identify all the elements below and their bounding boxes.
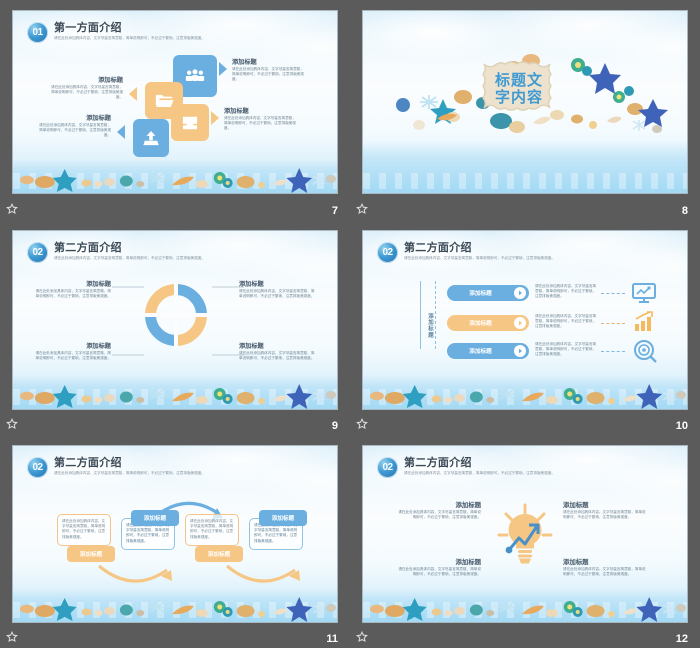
sea-shimmer (363, 141, 687, 193)
slide-7[interactable]: 01 第一方面介绍 请在此处添加具体内容，文字尽量言简意赅，简单说明即可，不必过… (12, 10, 338, 194)
pill-row-3[interactable]: 添加标题 (447, 343, 529, 359)
target-search-icon (633, 339, 657, 363)
dash-connector-3 (601, 351, 625, 352)
seashell-border (13, 594, 337, 620)
card-body: 请在此处添加具体内容，文字尽量言简意赅，简单说明即可，不必过于繁琐，注意排版美观… (190, 519, 234, 540)
slide-header: 01 第一方面介绍 请在此处添加具体内容，文字尽量言简意赅，简单说明即可，不必过… (27, 22, 236, 43)
dash-connector-1 (601, 293, 625, 294)
chevron-right-icon (514, 287, 526, 299)
lightbulb-growth-arrow-icon (496, 502, 554, 568)
inbox-download-icon (181, 115, 199, 131)
bar-chart-growth-icon (633, 311, 657, 333)
page-subtitle: 请在此处添加具体内容，文字尽量言简意赅，简单说明即可，不必过于繁琐，注意排版美观… (54, 471, 236, 476)
section-badge: 02 (27, 242, 48, 263)
slide-8[interactable]: 标题文 字内容 (362, 10, 688, 194)
slide-footer: 12 (350, 624, 700, 648)
pill-row-1[interactable]: 添加标题 (447, 285, 529, 301)
callout-body: 请在此处添加具体内容，文字尽量言简意赅，简单说明即可，不必过于繁琐，注意排版美观… (239, 289, 317, 299)
process-label-1[interactable]: 添加标题 (67, 546, 115, 562)
slide-12[interactable]: 02 第二方面介绍 请在此处添加具体内容，文字尽量言简意赅，简单说明即可，不必过… (362, 445, 688, 623)
page-number: 10 (676, 420, 688, 432)
slide-footer: 10 (350, 411, 700, 435)
page-title: 第二方面介绍 (54, 242, 236, 254)
callout-body: 请在此处添加具体内容，文字尽量言简意赅，简单说明即可，不必过于繁琐，注意排版美观… (563, 567, 647, 577)
slide-header: 02 第二方面介绍 请在此处添加具体内容，文字尽量言简意赅，简单说明即可，不必过… (27, 457, 236, 478)
callout-body: 请在此处添加具体内容，文字尽量言简意赅，简单说明即可，不必过于繁琐，注意排版美观… (35, 351, 111, 361)
page-subtitle: 请在此处添加具体内容，文字尽量言简意赅，简单说明即可，不必过于繁琐，注意排版美观… (54, 256, 236, 261)
page-number: 7 (332, 205, 338, 217)
star-outline-icon[interactable] (356, 418, 368, 430)
slide-cell-8[interactable]: 标题文 字内容 8 (350, 0, 700, 220)
row-body-3: 请在此处添加具体内容，文字尽量言简意赅，简单说明即可，不必过于繁琐，注意排版美观… (535, 342, 597, 358)
page-title: 第一方面介绍 (54, 22, 236, 34)
row-body-1: 请在此处添加具体内容，文字尽量言简意赅，简单说明即可，不必过于繁琐，注意排版美观… (535, 284, 597, 300)
callout-caption: 添加标题 (239, 343, 317, 351)
bulb-callout-1: 添加标题 请在此处添加具体内容，文字尽量言简意赅，简单说明即可，不必过于繁琐，注… (397, 502, 481, 520)
callout-caption: 添加标题 (397, 559, 481, 567)
callout-body: 请在此处添加具体内容，文字尽量言简意赅，简单说明即可，不必过于繁琐，注意排版美观… (563, 510, 647, 520)
callout-body: 请在此处添加具体内容，文字尽量言简意赅，简单说明即可，不必过于繁琐，注意排版美观… (239, 351, 317, 361)
callout-body: 请在此处添加具体内容，文字尽量言简意赅，简单说明即可，不必过于繁琐，注意排版美观… (49, 85, 123, 101)
page-title: 第二方面介绍 (404, 242, 586, 254)
upload-icon (143, 130, 159, 147)
pill-label: 添加标题 (447, 319, 514, 327)
star-outline-icon[interactable] (356, 631, 368, 643)
slide-9[interactable]: 02 第二方面介绍 请在此处添加具体内容，文字尽量言简意赅，简单说明即可，不必过… (12, 230, 338, 410)
card-body: 请在此处添加具体内容，文字尽量言简意赅，简单说明即可，不必过于繁琐，注意排版美观… (254, 523, 298, 544)
slide-cell-7[interactable]: 01 第一方面介绍 请在此处添加具体内容，文字尽量言简意赅，简单说明即可，不必过… (0, 0, 350, 220)
slide-11[interactable]: 02 第二方面介绍 请在此处添加具体内容，文字尽量言简意赅，简单说明即可，不必过… (12, 445, 338, 623)
arrow-left-2 (117, 125, 125, 139)
arrow-left-1 (129, 87, 137, 101)
callout-caption: 添加标题 (224, 108, 296, 116)
page-subtitle: 请在此处添加具体内容，文字尽量言简意赅，简单说明即可，不必过于繁琐，注意排版美观… (54, 36, 236, 41)
leader-lines (108, 281, 248, 361)
page-number: 8 (682, 205, 688, 217)
axis-line (420, 281, 421, 349)
seashell-border (363, 594, 687, 620)
callout-caption: 添加标题 (239, 281, 317, 289)
slide-cell-12[interactable]: 02 第二方面介绍 请在此处添加具体内容，文字尽量言简意赅，简单说明即可，不必过… (350, 435, 700, 648)
callout-body: 请在此处添加具体内容，文字尽量言简意赅，简单说明即可，不必过于繁琐，注意排版美观… (397, 567, 481, 577)
donut-callout-4: 添加标题 请在此处添加具体内容，文字尽量言简意赅，简单说明即可，不必过于繁琐，注… (239, 343, 317, 361)
process-label-3[interactable]: 添加标题 (195, 546, 243, 562)
slide-cell-11[interactable]: 02 第二方面介绍 请在此处添加具体内容，文字尽量言简意赅，简单说明即可，不必过… (0, 435, 350, 648)
bulb-callout-2: 添加标题 请在此处添加具体内容，文字尽量言简意赅，简单说明即可，不必过于繁琐，注… (563, 502, 647, 520)
callout-caption: 添加标题 (563, 502, 647, 510)
chevron-right-icon (514, 317, 526, 329)
dash-connector-2 (601, 323, 625, 324)
star-outline-icon[interactable] (356, 203, 368, 215)
seashell-border (13, 165, 337, 191)
process-label-2[interactable]: 添加标题 (131, 510, 179, 526)
seashell-border (13, 381, 337, 407)
section-badge: 01 (27, 22, 48, 43)
donut-callout-1: 添加标题 请在此处添加具体内容，文字尽量言简意赅，简单说明即可，不必过于繁琐，注… (35, 281, 111, 299)
page-number: 12 (676, 633, 688, 645)
pill-label: 添加标题 (447, 289, 514, 297)
page-number: 11 (326, 633, 338, 645)
callout-body: 请在此处添加具体内容，文字尽量言简意赅，简单说明即可，不必过于繁琐，注意排版美观… (397, 510, 481, 520)
slide-footer: 7 (0, 196, 350, 220)
callout-caption: 添加标题 (563, 559, 647, 567)
callout-caption: 添加标题 (49, 77, 123, 85)
arrow-right-2 (211, 111, 219, 125)
page-title: 第二方面介绍 (404, 457, 586, 469)
slide-footer: 9 (0, 411, 350, 435)
tile-upload[interactable] (133, 119, 169, 157)
slide-header: 02 第二方面介绍 请在此处添加具体内容，文字尽量言简意赅，简单说明即可，不必过… (377, 457, 586, 478)
people-group-icon (185, 69, 205, 83)
page-number: 9 (332, 420, 338, 432)
callout-caption: 添加标题 (397, 502, 481, 510)
process-card-3[interactable]: 请在此处添加具体内容，文字尽量言简意赅，简单说明即可，不必过于繁琐，注意排版美观… (185, 514, 239, 546)
page-subtitle: 请在此处添加具体内容，文字尽量言简意赅，简单说明即可，不必过于繁琐，注意排版美观… (404, 256, 586, 261)
bulb-callout-4: 添加标题 请在此处添加具体内容，文字尽量言简意赅，简单说明即可，不必过于繁琐，注… (563, 559, 647, 577)
slide-footer: 8 (350, 196, 700, 220)
callout-body: 请在此处添加具体内容，文字尽量言简意赅，简单说明即可，不必过于繁琐，注意排版美观… (224, 116, 296, 132)
slide-cell-9[interactable]: 02 第二方面介绍 请在此处添加具体内容，文字尽量言简意赅，简单说明即可，不必过… (0, 220, 350, 435)
star-outline-icon[interactable] (6, 631, 18, 643)
callout-2: 添加标题 请在此处添加具体内容，文字尽量言简意赅，简单说明即可，不必过于繁琐，注… (49, 77, 123, 101)
star-outline-icon[interactable] (6, 418, 18, 430)
folder-icon (155, 93, 174, 108)
slide-header: 02 第二方面介绍 请在此处添加具体内容，文字尽量言简意赅，简单说明即可，不必过… (27, 242, 236, 263)
pill-row-2[interactable]: 添加标题 (447, 315, 529, 331)
callout-body: 请在此处添加具体内容，文字尽量言简意赅，简单说明即可，不必过于繁琐，注意排版美观… (37, 123, 111, 139)
slide-header: 02 第二方面介绍 请在此处添加具体内容，文字尽量言简意赅，简单说明即可，不必过… (377, 242, 586, 263)
monitor-presentation-icon (631, 281, 657, 305)
slide-thumbnail-grid: 01 第一方面介绍 请在此处添加具体内容，文字尽量言简意赅，简单说明即可，不必过… (0, 0, 700, 648)
row-body-2: 请在此处添加具体内容，文字尽量言简意赅，简单说明即可，不必过于繁琐，注意排版美观… (535, 314, 597, 330)
callout-caption: 添加标题 (37, 115, 111, 123)
star-outline-icon[interactable] (6, 203, 18, 215)
page-title: 第二方面介绍 (54, 457, 236, 469)
process-label-4[interactable]: 添加标题 (259, 510, 307, 526)
pill-label: 添加标题 (447, 347, 514, 355)
chevron-right-icon (514, 345, 526, 357)
bulb-callout-3: 添加标题 请在此处添加具体内容，文字尽量言简意赅，简单说明即可，不必过于繁琐，注… (397, 559, 481, 577)
callout-body: 请在此处添加具体内容，文字尽量言简意赅，简单说明即可，不必过于繁琐，注意排版美观… (35, 289, 111, 299)
vertical-label: 添加标题 (426, 313, 434, 339)
donut-callout-3: 添加标题 请在此处添加具体内容，文字尽量言简意赅，简单说明即可，不必过于繁琐，注… (35, 343, 111, 361)
section-badge: 02 (377, 242, 398, 263)
plaque-line-1: 标题文 (495, 72, 543, 89)
dashed-axis (435, 281, 436, 349)
callout-3: 添加标题 请在此处添加具体内容，文字尽量言简意赅，简单说明即可，不必过于繁琐，注… (224, 108, 296, 132)
tile-inbox[interactable] (171, 104, 209, 141)
arrow-right-1 (219, 62, 227, 76)
callout-4: 添加标题 请在此处添加具体内容，文字尽量言简意赅，简单说明即可，不必过于繁琐，注… (37, 115, 111, 139)
seashell-border (363, 381, 687, 407)
card-body: 请在此处添加具体内容，文字尽量言简意赅，简单说明即可，不必过于繁琐，注意排版美观… (126, 523, 170, 544)
slide-cell-10[interactable]: 02 第二方面介绍 请在此处添加具体内容，文字尽量言简意赅，简单说明即可，不必过… (350, 220, 700, 435)
callout-caption: 添加标题 (35, 343, 111, 351)
plaque-line-2: 字内容 (495, 89, 543, 106)
page-subtitle: 请在此处添加具体内容，文字尽量言简意赅，简单说明即可，不必过于繁琐，注意排版美观… (404, 471, 586, 476)
section-badge: 02 (27, 457, 48, 478)
process-card-1[interactable]: 请在此处添加具体内容，文字尽量言简意赅，简单说明即可，不必过于繁琐，注意排版美观… (57, 514, 111, 546)
callout-caption: 添加标题 (35, 281, 111, 289)
slide-footer: 11 (0, 624, 350, 648)
donut-callout-2: 添加标题 请在此处添加具体内容，文字尽量言简意赅，简单说明即可，不必过于繁琐，注… (239, 281, 317, 299)
callout-1: 添加标题 请在此处添加具体内容，文字尽量言简意赅，简单说明即可，不必过于繁琐，注… (232, 59, 304, 83)
title-plaque: 标题文 字内容 (476, 58, 562, 120)
slide-10[interactable]: 02 第二方面介绍 请在此处添加具体内容，文字尽量言简意赅，简单说明即可，不必过… (362, 230, 688, 410)
section-badge: 02 (377, 457, 398, 478)
callout-caption: 添加标题 (232, 59, 304, 67)
card-body: 请在此处添加具体内容，文字尽量言简意赅，简单说明即可，不必过于繁琐，注意排版美观… (62, 519, 106, 540)
callout-body: 请在此处添加具体内容，文字尽量言简意赅，简单说明即可，不必过于繁琐，注意排版美观… (232, 67, 304, 83)
